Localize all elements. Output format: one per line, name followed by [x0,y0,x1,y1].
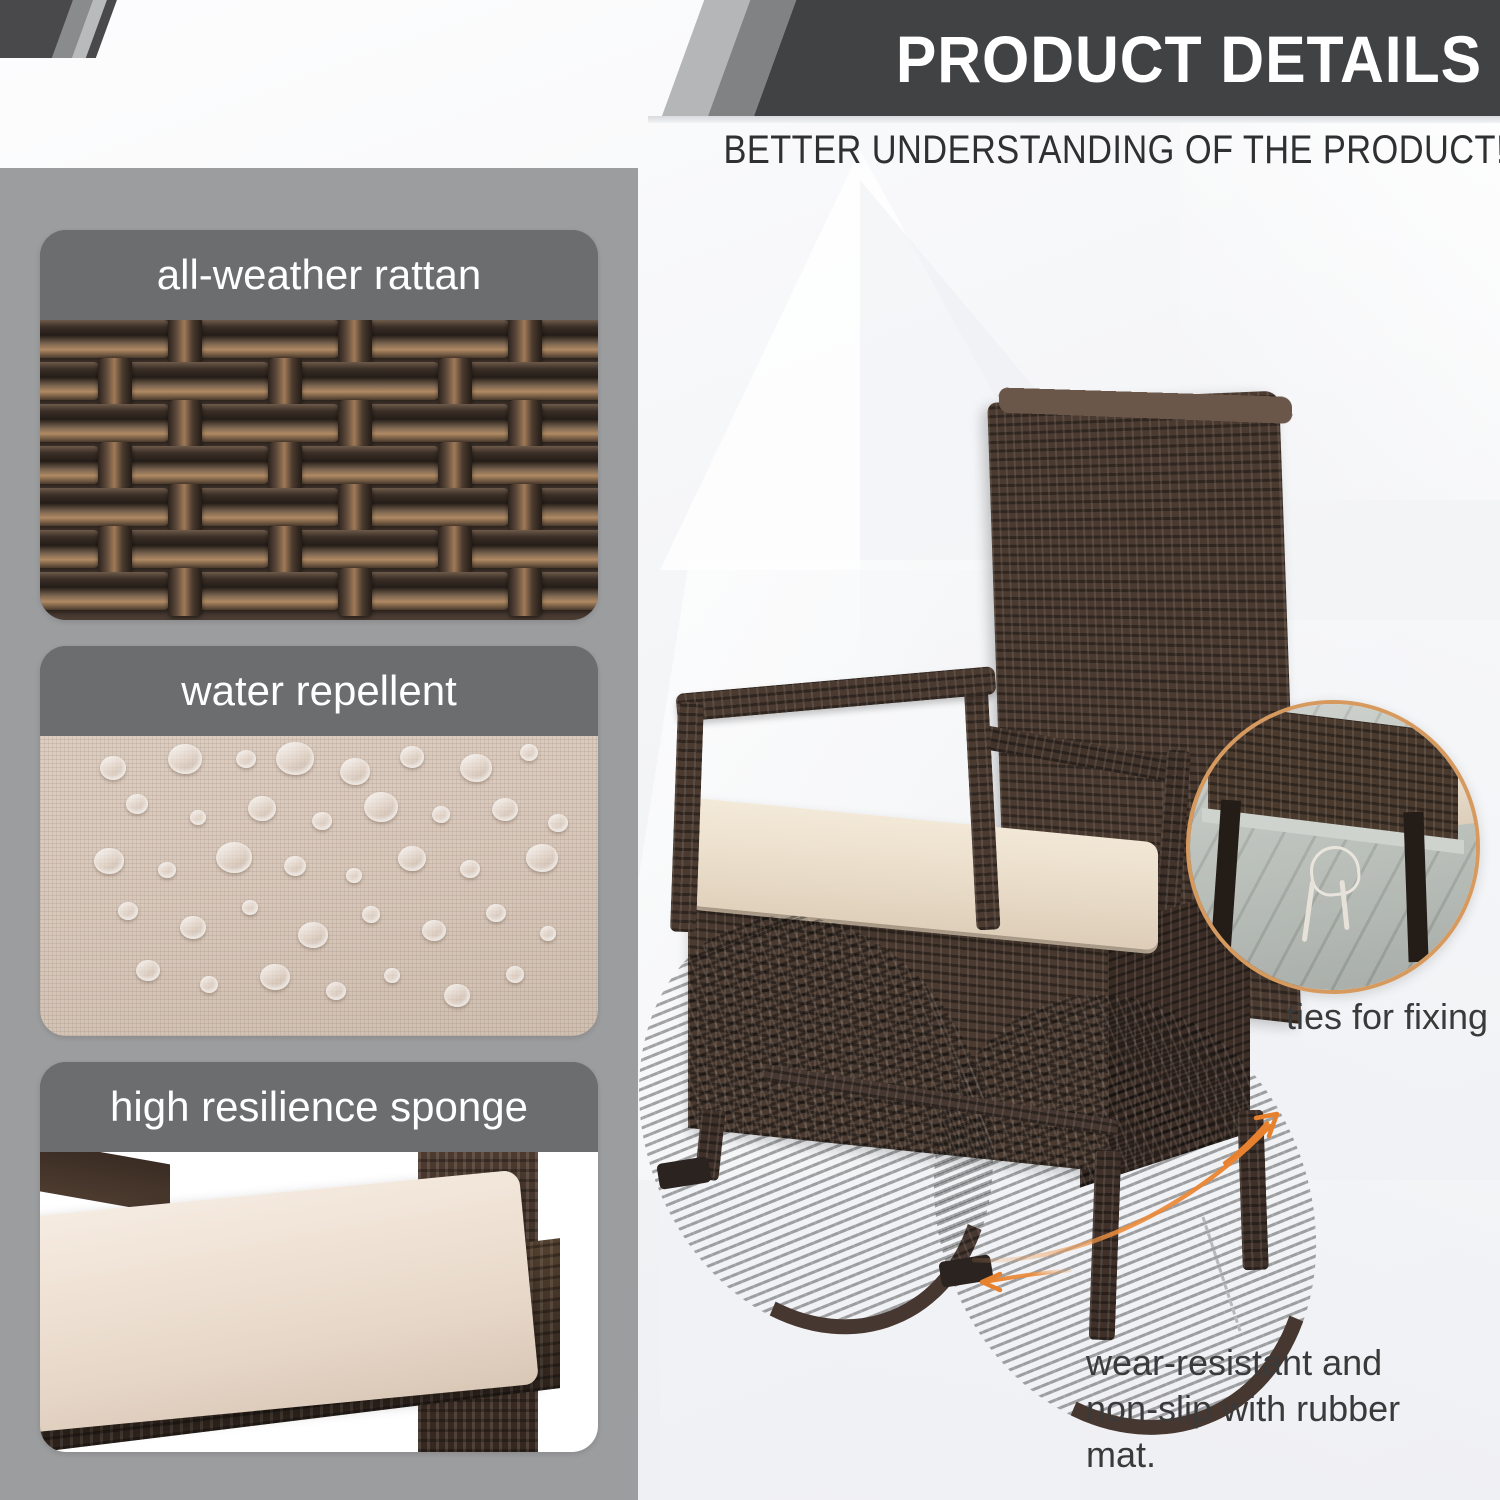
infographic-canvas: PRODUCT DETAILS BETTER UNDERSTANDING OF … [0,0,1500,1500]
feature-card-header: high resilience sponge [40,1062,598,1152]
feature-card-header: water repellent [40,646,598,736]
feature-card-image-rattan [40,320,598,620]
callout-label-rubber-mat: wear-resistant and non-slip with rubber … [1086,1340,1416,1478]
feature-panel: all-weather rattan [0,168,638,1500]
banner-shadow [648,116,1500,123]
feature-card-image-water [40,736,598,1036]
feature-card-rattan: all-weather rattan [40,230,598,620]
feature-card-image-sponge [40,1152,598,1452]
feature-card-label: high resilience sponge [110,1086,528,1128]
callout-circle-ties [1186,700,1480,994]
feature-card-header: all-weather rattan [40,230,598,320]
page-title: PRODUCT DETAILS [763,14,1482,104]
page-subtitle: BETTER UNDERSTANDING OF THE PRODUCT! [723,128,1482,173]
feature-card-water-repellent: water repellent [40,646,598,1036]
feature-card-label: water repellent [181,670,456,712]
chair-armrest-near [675,666,996,722]
feature-card-label: all-weather rattan [157,254,482,296]
callout-label-ties: ties for fixing [1286,996,1488,1038]
feature-card-sponge: high resilience sponge [40,1062,598,1452]
